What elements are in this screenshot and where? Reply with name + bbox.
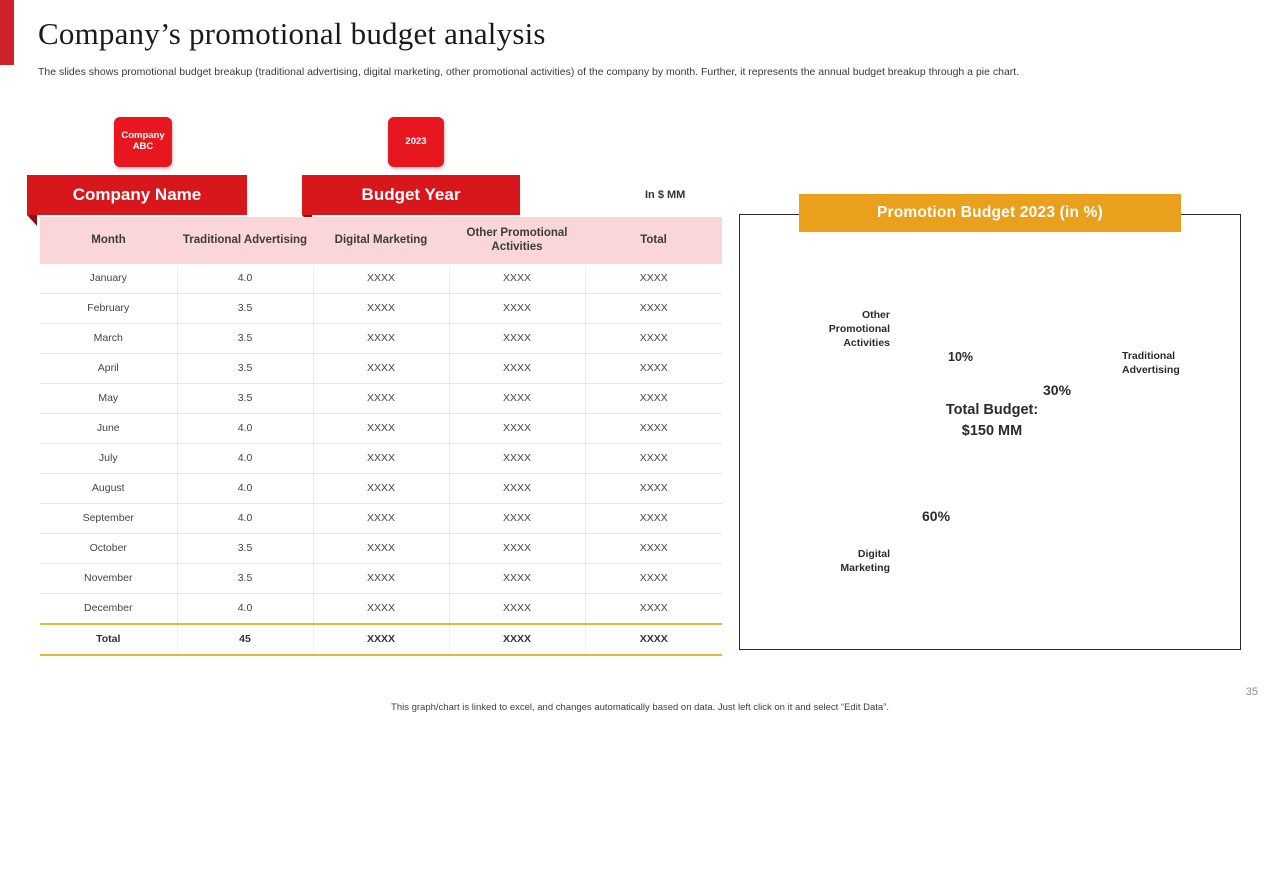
donut-center-line1: Total Budget: (902, 400, 1082, 421)
ribbon-budget-year: Budget Year (302, 175, 520, 215)
page-title: Company’s promotional budget analysis (38, 16, 546, 52)
table-row: October3.5XXXXXXXXXXXX (40, 533, 722, 563)
table-cell: November (40, 563, 177, 593)
table-cell: XXXX (585, 443, 722, 473)
accent-bar (0, 0, 14, 65)
table-cell: May (40, 383, 177, 413)
table-cell: XXXX (449, 293, 585, 323)
table-cell: XXXX (313, 533, 449, 563)
table-cell: 4.0 (177, 503, 313, 533)
panel-title: Promotion Budget 2023 (in %) (799, 194, 1181, 232)
table-cell: XXXX (585, 503, 722, 533)
table-cell: January (40, 264, 177, 294)
tag-year: 2023 (388, 117, 444, 167)
table-cell: 4.0 (177, 264, 313, 294)
table-cell: XXXX (449, 473, 585, 503)
table-cell: XXXX (313, 563, 449, 593)
footer-note: This graph/chart is linked to excel, and… (0, 702, 1280, 713)
table-cell: 3.5 (177, 563, 313, 593)
table-cell: September (40, 503, 177, 533)
table-cell: XXXX (449, 323, 585, 353)
table-cell: 45 (177, 624, 313, 655)
callout-label-other: Other Promotional Activities (806, 309, 890, 351)
table-row: July4.0XXXXXXXXXXXX (40, 443, 722, 473)
table-row: June4.0XXXXXXXXXXXX (40, 413, 722, 443)
table-cell: XXXX (449, 533, 585, 563)
table-cell: XXXX (449, 624, 585, 655)
column-header-digital: Digital Marketing (313, 217, 449, 264)
table-cell: XXXX (585, 593, 722, 624)
table-cell: 4.0 (177, 593, 313, 624)
column-header-month: Month (40, 217, 177, 264)
table-cell: 3.5 (177, 383, 313, 413)
page-subtitle: The slides shows promotional budget brea… (38, 66, 1019, 78)
value-label-traditional: 30% (1043, 382, 1071, 398)
column-header-traditional: Traditional Advertising (177, 217, 313, 264)
value-label-digital: 60% (922, 508, 950, 524)
table-cell: XXXX (313, 383, 449, 413)
donut-center-text: Total Budget: $150 MM (902, 400, 1082, 442)
table-cell: XXXX (585, 383, 722, 413)
table-cell: XXXX (313, 473, 449, 503)
value-label-other: 10% (948, 350, 973, 364)
table-total-row: Total45XXXXXXXXXXXX (40, 624, 722, 655)
table-cell: October (40, 533, 177, 563)
table-cell: August (40, 473, 177, 503)
table-cell: 4.0 (177, 473, 313, 503)
table-row: December4.0XXXXXXXXXXXX (40, 593, 722, 624)
table-cell: XXXX (313, 443, 449, 473)
table-cell: 3.5 (177, 533, 313, 563)
table-cell: April (40, 353, 177, 383)
budget-table: Month Traditional Advertising Digital Ma… (40, 217, 722, 656)
table-cell: XXXX (449, 503, 585, 533)
unit-label: In $ MM (645, 189, 685, 201)
table-cell: February (40, 293, 177, 323)
table-cell: XXXX (449, 563, 585, 593)
table-row: January4.0XXXXXXXXXXXX (40, 264, 722, 294)
table-cell: XXXX (585, 353, 722, 383)
tag-company-abc: CompanyABC (114, 117, 172, 167)
table-cell: XXXX (585, 264, 722, 294)
table-cell: XXXX (449, 383, 585, 413)
table-row: September4.0XXXXXXXXXXXX (40, 503, 722, 533)
table-cell: 3.5 (177, 323, 313, 353)
table-cell: XXXX (313, 624, 449, 655)
table-cell: XXXX (313, 264, 449, 294)
table-row: February3.5XXXXXXXXXXXX (40, 293, 722, 323)
column-header-other: Other Promotional Activities (449, 217, 585, 264)
table-header-row: Month Traditional Advertising Digital Ma… (40, 217, 722, 264)
column-header-total: Total (585, 217, 722, 264)
table-cell: XXXX (313, 353, 449, 383)
table-cell: March (40, 323, 177, 353)
table-cell: 3.5 (177, 353, 313, 383)
table-cell: XXXX (585, 413, 722, 443)
table-cell: 4.0 (177, 413, 313, 443)
callout-label-traditional: Traditional Advertising (1122, 350, 1230, 378)
table-cell: XXXX (313, 323, 449, 353)
table-cell: XXXX (585, 563, 722, 593)
table-cell: XXXX (585, 323, 722, 353)
table-cell: XXXX (449, 593, 585, 624)
table-cell: XXXX (449, 443, 585, 473)
table-cell: XXXX (313, 413, 449, 443)
table-body: January4.0XXXXXXXXXXXXFebruary3.5XXXXXXX… (40, 264, 722, 655)
callout-label-digital: Digital Marketing (826, 548, 890, 576)
page-number: 35 (1246, 686, 1258, 698)
table-row: August4.0XXXXXXXXXXXX (40, 473, 722, 503)
table-cell: Total (40, 624, 177, 655)
table-cell: XXXX (585, 293, 722, 323)
table-cell: December (40, 593, 177, 624)
ribbon-company-name: Company Name (27, 175, 247, 215)
table-cell: June (40, 413, 177, 443)
table-cell: XXXX (313, 593, 449, 624)
table-row: May3.5XXXXXXXXXXXX (40, 383, 722, 413)
table-cell: XXXX (313, 293, 449, 323)
budget-table-wrapper: Month Traditional Advertising Digital Ma… (40, 217, 722, 656)
table-cell: XXXX (585, 533, 722, 563)
table-cell: XXXX (585, 624, 722, 655)
table-row: November3.5XXXXXXXXXXXX (40, 563, 722, 593)
table-row: March3.5XXXXXXXXXXXX (40, 323, 722, 353)
table-row: April3.5XXXXXXXXXXXX (40, 353, 722, 383)
table-cell: XXXX (449, 413, 585, 443)
table-cell: XXXX (585, 473, 722, 503)
table-cell: 4.0 (177, 443, 313, 473)
donut-center-line2: $150 MM (902, 421, 1082, 442)
table-cell: July (40, 443, 177, 473)
table-cell: XXXX (449, 264, 585, 294)
table-cell: XXXX (449, 353, 585, 383)
table-cell: XXXX (313, 503, 449, 533)
table-cell: 3.5 (177, 293, 313, 323)
